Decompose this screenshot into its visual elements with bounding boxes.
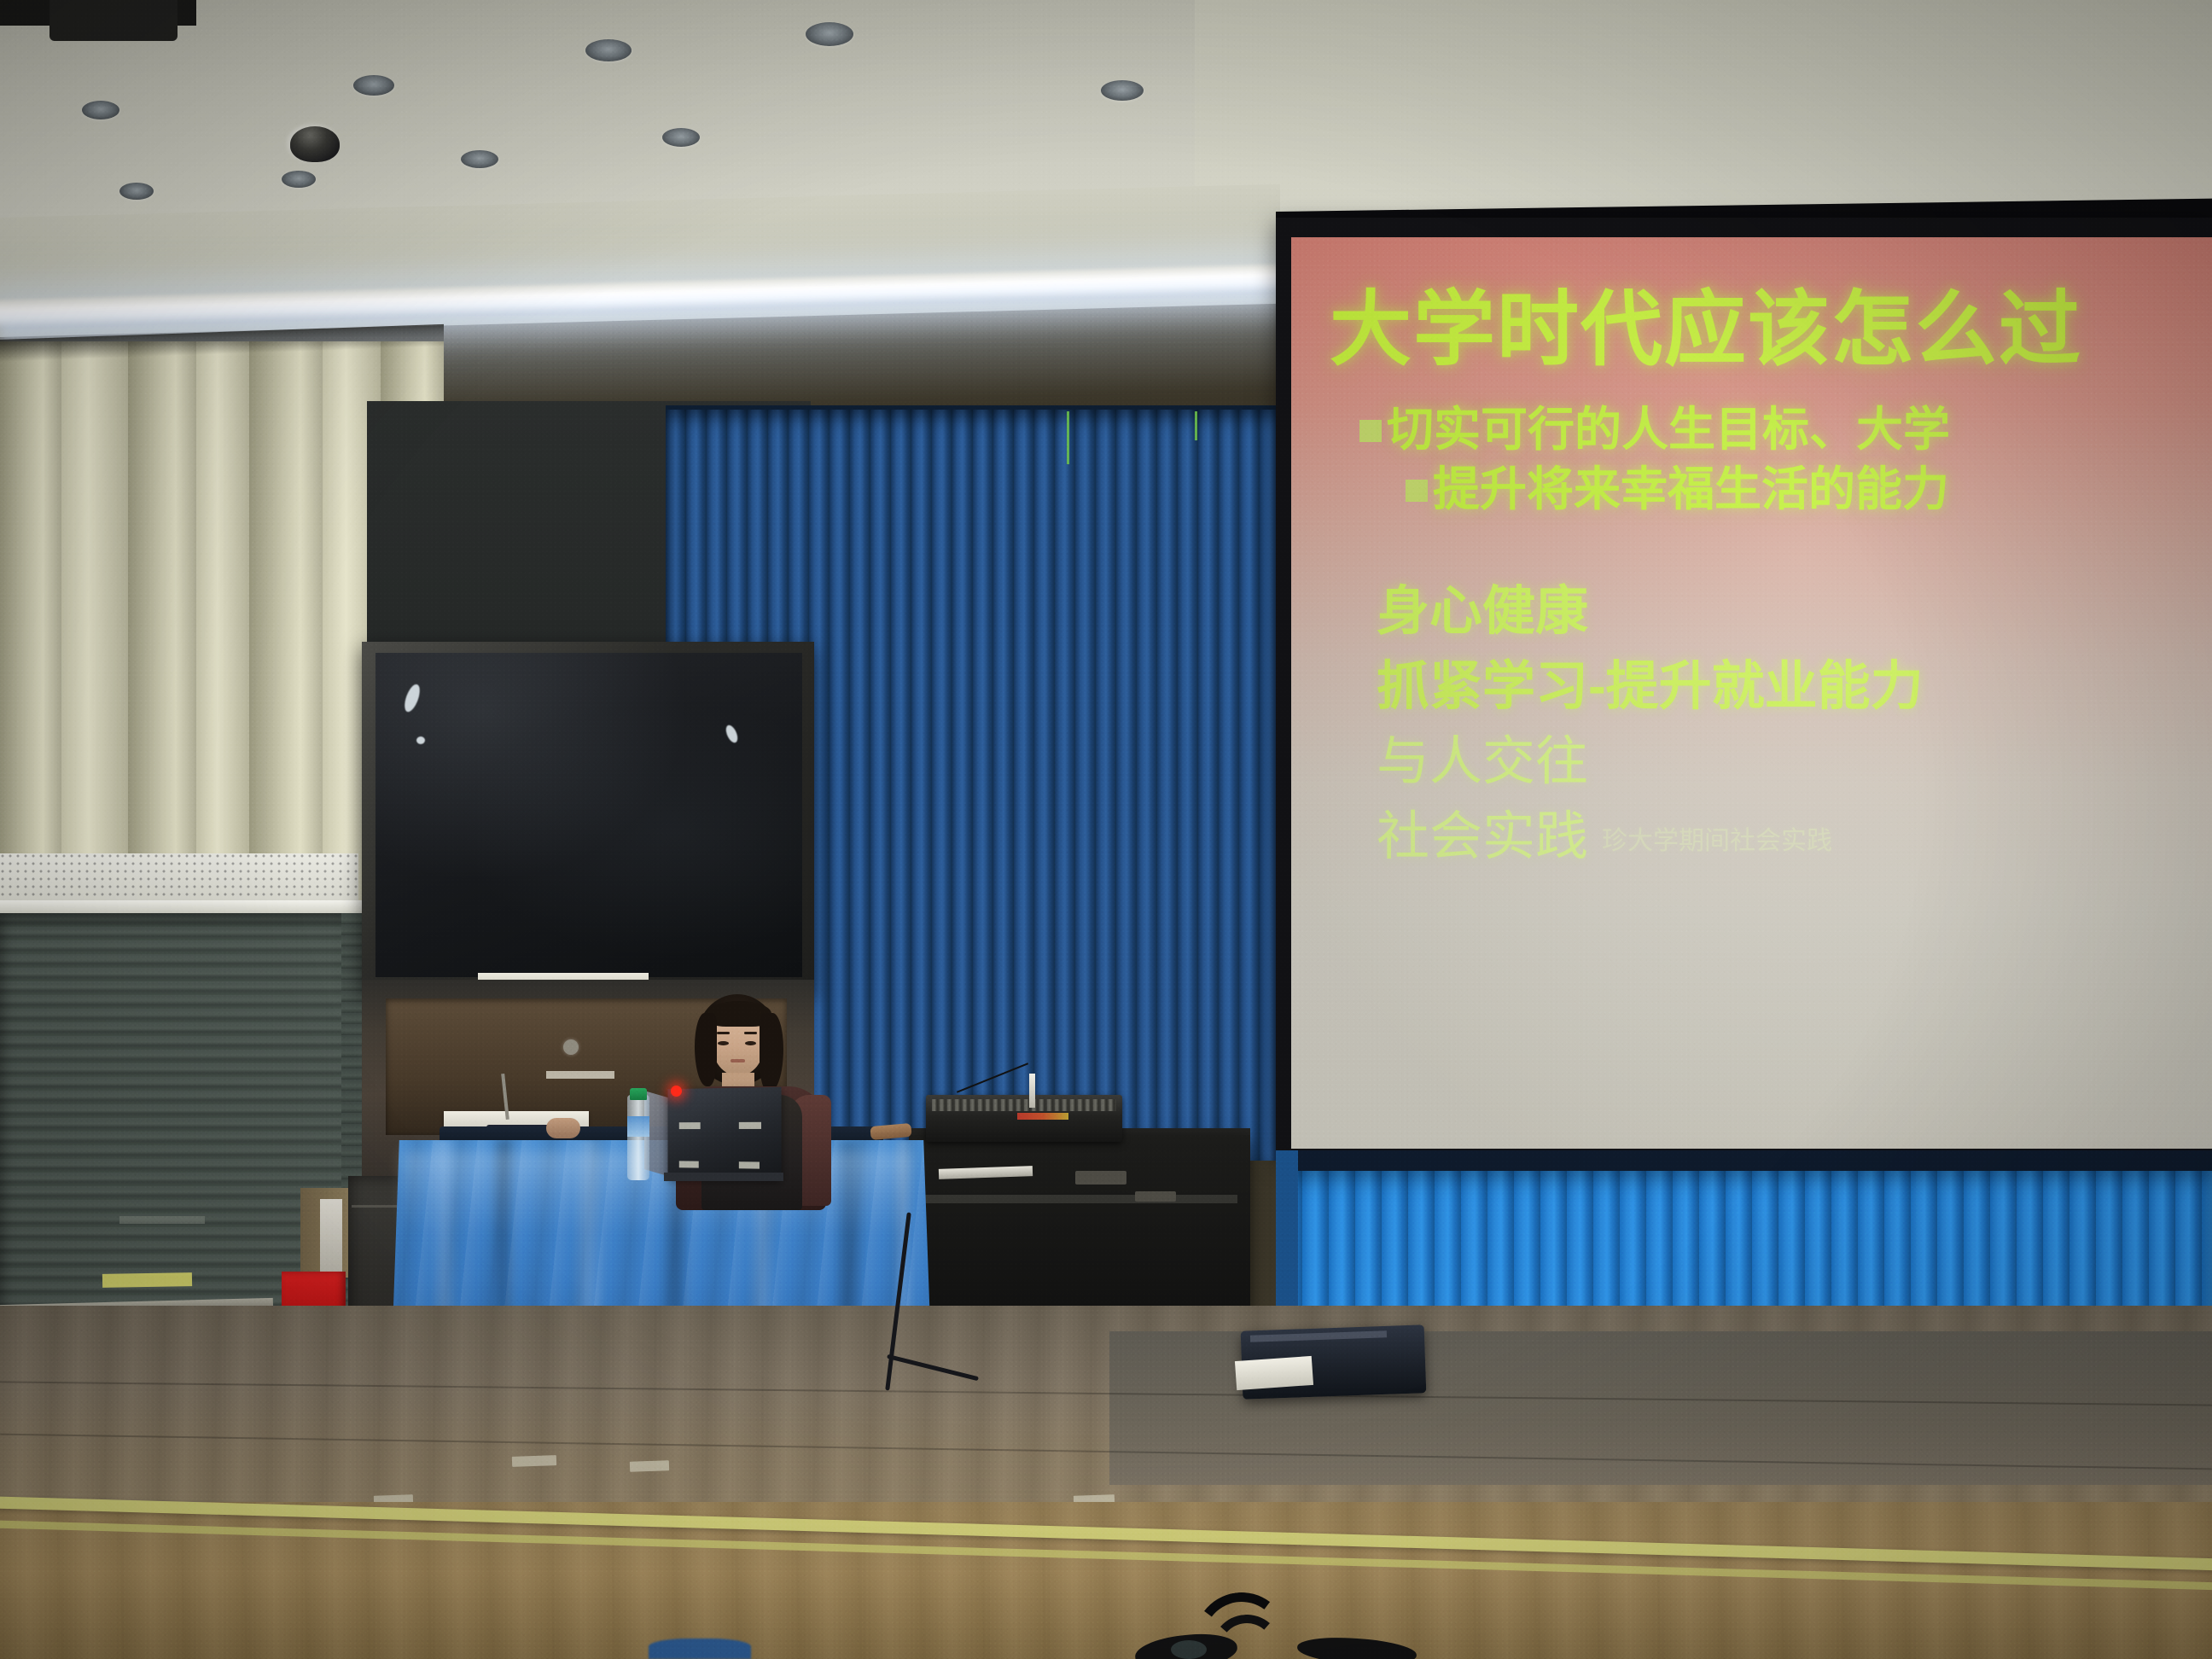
- glare-highlight: [416, 736, 425, 744]
- mixer-led-indicators: [1017, 1113, 1068, 1120]
- presenter-eye: [718, 1041, 729, 1045]
- glare-highlight: [402, 683, 423, 714]
- downlight-icon: [806, 22, 853, 46]
- slide-body-line: 与人交往: [1377, 725, 1924, 800]
- presenter-mouth: [731, 1059, 745, 1062]
- downlight-icon: [1101, 80, 1144, 101]
- bottle-label: [627, 1116, 649, 1137]
- presenter-eye: [745, 1041, 756, 1045]
- presenter-hair-left: [695, 1013, 717, 1086]
- ceiling-right-section: [1195, 0, 2212, 226]
- security-camera-icon: [290, 126, 340, 162]
- downlight-icon: [461, 150, 498, 168]
- slide-bullet-text: 提升将来幸福生活的能力: [1433, 463, 1949, 515]
- cabinet-slot: [546, 1071, 614, 1079]
- slide-bullet-text: 切实可行的人生目标、大学: [1387, 403, 1950, 456]
- slide-body-line: 社会实践: [1377, 807, 1588, 866]
- av-cart-device: [1075, 1171, 1126, 1185]
- ceiling-dark-recess-2: [49, 0, 178, 41]
- cable-highlight: [1171, 1640, 1207, 1659]
- presenter-hair-right: [760, 1013, 783, 1091]
- downlight-icon: [282, 171, 316, 188]
- bullet-square-icon: [1406, 480, 1428, 502]
- floor-marking: [630, 1460, 669, 1472]
- laptop[interactable]: [668, 1087, 782, 1179]
- av-cart-device: [1135, 1191, 1176, 1202]
- cabinet-knob[interactable]: [563, 1039, 579, 1055]
- slide-body-line: 身心健康: [1377, 574, 1924, 649]
- perforated-panel-band: [0, 853, 358, 906]
- lecture-hall-scene: 大学时代应该怎么过 切实可行的人生目标、大学 提升将来幸福生活的能力 身心健康 …: [0, 0, 2212, 1659]
- slide-body-list: 身心健康 抓紧学习-提升就业能力 与人交往 社会实践珍大学期间社会实践: [1377, 574, 1924, 875]
- downlight-icon: [119, 183, 154, 200]
- foreground-object: [649, 1639, 751, 1659]
- bottle-cap: [630, 1088, 647, 1100]
- presenter-eyebrow: [717, 1032, 730, 1034]
- mixer-knob-row[interactable]: [932, 1099, 1116, 1111]
- presenter-eyebrow: [744, 1032, 757, 1034]
- wall-monitor-panel[interactable]: [375, 653, 802, 977]
- glare-highlight: [724, 724, 740, 745]
- laptop-sticker: [739, 1161, 760, 1168]
- cardboard-white-sheet: [320, 1199, 342, 1278]
- downlight-icon: [353, 75, 394, 96]
- downlight-icon: [662, 128, 700, 147]
- water-bottle[interactable]: [627, 1095, 649, 1180]
- slide-body-line-with-note: 社会实践珍大学期间社会实践: [1377, 800, 1924, 875]
- presenter-hand: [546, 1118, 580, 1138]
- av-cart-shelf: [922, 1195, 1237, 1203]
- yellow-floor-strip: [102, 1272, 192, 1288]
- perforated-panel-trim: [0, 900, 375, 914]
- laptop-hinge: [664, 1173, 783, 1181]
- downlight-icon: [82, 101, 119, 119]
- slide-faint-note: 珍大学期间社会实践: [1602, 827, 1832, 855]
- bullet-square-icon: [1359, 420, 1382, 442]
- slide-bullet-item: 切实可行的人生目标、大学: [1359, 399, 1950, 459]
- slide-body-line: 抓紧学习-提升就业能力: [1377, 649, 1924, 725]
- downlight-icon: [585, 39, 632, 61]
- laptop-sticker: [679, 1161, 699, 1167]
- laptop-sticker: [679, 1122, 701, 1129]
- slat-highlight: [119, 1216, 205, 1224]
- projection-screen[interactable]: 大学时代应该怎么过 切实可行的人生目标、大学 提升将来幸福生活的能力 身心健康 …: [1291, 237, 2212, 1149]
- wireless-antenna-icon: [1029, 1074, 1035, 1108]
- curtain-thread: [1067, 411, 1069, 464]
- slide-bullet-item: 提升将来幸福生活的能力: [1359, 459, 1950, 519]
- floor-marking: [512, 1455, 556, 1467]
- laptop-sticker: [739, 1122, 761, 1129]
- slide-bullet-list: 切实可行的人生目标、大学 提升将来幸福生活的能力: [1359, 399, 1950, 520]
- red-indicator-led: [671, 1086, 682, 1097]
- equipment-case-paper: [1235, 1356, 1313, 1390]
- curtain-thread: [1195, 411, 1197, 440]
- slide-title: 大学时代应该怎么过: [1330, 263, 2082, 381]
